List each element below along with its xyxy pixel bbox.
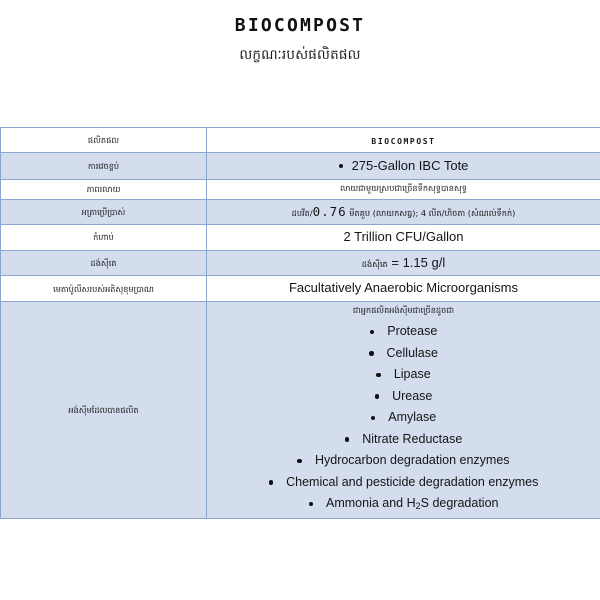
row-label-usage-rate: អត្រាប្រើប្រាស់ xyxy=(1,199,207,224)
usage-rate-suffix: មីតគួប (លាយកសធ្វ); 4 លីត/ហិចតា (សំណល់ទឹក… xyxy=(347,208,516,218)
bullet-dot-icon xyxy=(370,330,375,335)
bullet-dot-icon xyxy=(297,459,302,464)
row-label-concentration: កំហាប់ xyxy=(1,224,207,250)
row-value-packaging: 275-Gallon IBC Tote xyxy=(207,153,600,180)
list-item: Urease xyxy=(213,386,594,408)
row-value-density: ដង់ស៊ីតេ = 1.15 g/l xyxy=(207,250,600,276)
table-row: មេតាប៉ូលីសរបស់អតិសុខុមប្រាណ Facultativel… xyxy=(1,276,600,302)
row-value-metabolism: Facultatively Anaerobic Microorganisms xyxy=(207,276,600,302)
list-item: Lipase xyxy=(213,364,594,386)
table-row: ភាពរលាយ លាយជាមួយស្របជាច្រើនទឹកសុទ្ធបានសុ… xyxy=(1,179,600,199)
enzyme-name: Lipase xyxy=(394,364,431,386)
usage-rate-number: 0.76 xyxy=(313,204,347,219)
ammonia-prefix: Ammonia and H xyxy=(326,496,416,510)
table-row: កំហាប់ 2 Trillion CFU/Gallon xyxy=(1,224,600,250)
ammonia-suffix: S degradation xyxy=(421,496,499,510)
bullet-dot-icon xyxy=(375,394,380,399)
bullet-dot-icon xyxy=(269,480,274,485)
brand-title: BioCompost xyxy=(0,10,600,37)
row-value-concentration: 2 Trillion CFU/Gallon xyxy=(207,224,600,250)
product-spec-sheet: BioCompost លក្ខណៈរបស់ផលិតផល ផលិតផល BioCo… xyxy=(0,0,600,600)
table-row: ផលិតផល BioCompost xyxy=(1,128,600,153)
list-item: Chemical and pesticide degradation enzym… xyxy=(213,472,594,494)
density-value: = 1.15 g/l xyxy=(388,255,445,270)
enzyme-name: Nitrate Reductase xyxy=(362,429,462,451)
product-name-text: BioCompost xyxy=(371,134,435,147)
list-item: Ammonia and H2S degradation xyxy=(213,493,594,515)
bullet-dot-icon xyxy=(339,164,343,168)
list-item: Hydrocarbon degradation enzymes xyxy=(213,450,594,472)
list-item: Amylase xyxy=(213,407,594,429)
row-label-packaging: ការវេចខ្ចប់ xyxy=(1,153,207,180)
bullet-dot-icon xyxy=(345,437,350,442)
bullet-dot-icon xyxy=(371,416,376,421)
row-value-solubility: លាយជាមួយស្របជាច្រើនទឹកសុទ្ធបានសុទ្ធ xyxy=(207,179,600,199)
row-value-usage-rate: ដបវីត/0.76 មីតគួប (លាយកសធ្វ); 4 លីត/ហិចត… xyxy=(207,199,600,224)
row-label-density: ដង់ស៊ីតេ xyxy=(1,250,207,276)
enzyme-list: Protease Cellulase Lipase Urease Amylase… xyxy=(213,321,594,515)
table-row: ដង់ស៊ីតេ ដង់ស៊ីតេ = 1.15 g/l xyxy=(1,250,600,276)
bullet-dot-icon xyxy=(376,373,381,378)
bullet-line: 275-Gallon IBC Tote xyxy=(213,156,594,176)
enzyme-list-heading: ជាអ្នកផលិតអង់ស៊ីមជាច្រើនដូចជា xyxy=(213,305,594,317)
page-subtitle: លក្ខណៈរបស់ផលិតផល xyxy=(0,46,600,66)
table-row: ការវេចខ្ចប់ 275-Gallon IBC Tote xyxy=(1,153,600,180)
bullet-dot-icon xyxy=(309,502,314,507)
row-label-metabolism: មេតាប៉ូលីសរបស់អតិសុខុមប្រាណ xyxy=(1,276,207,302)
list-item: Nitrate Reductase xyxy=(213,429,594,451)
row-label-enzymes: អង់ស៊ីមដែលបានផលិត xyxy=(1,302,207,518)
enzyme-name: Protease xyxy=(387,321,437,343)
enzyme-name: Cellulase xyxy=(387,343,438,365)
enzyme-name-ammonia: Ammonia and H2S degradation xyxy=(326,493,498,515)
row-value-enzymes: ជាអ្នកផលិតអង់ស៊ីមជាច្រើនដូចជា Protease C… xyxy=(207,302,600,518)
table-row: អត្រាប្រើប្រាស់ ដបវីត/0.76 មីតគួប (លាយកស… xyxy=(1,199,600,224)
enzyme-name: Hydrocarbon degradation enzymes xyxy=(315,450,510,472)
packaging-text: 275-Gallon IBC Tote xyxy=(352,156,469,176)
enzyme-name: Urease xyxy=(392,386,432,408)
row-label-solubility: ភាពរលាយ xyxy=(1,179,207,199)
list-item: Cellulase xyxy=(213,343,594,365)
bullet-dot-icon xyxy=(369,351,374,356)
enzyme-name: Amylase xyxy=(388,407,436,429)
row-label-product: ផលិតផល xyxy=(1,128,207,153)
usage-rate-prefix: ដបវីត/ xyxy=(292,208,313,218)
table-row-enzymes: អង់ស៊ីមដែលបានផលិត ជាអ្នកផលិតអង់ស៊ីមជាច្រ… xyxy=(1,302,600,518)
spec-table-wrapper: ផលិតផល BioCompost ការវេចខ្ចប់ 275-Gallon… xyxy=(0,127,600,519)
density-prefix: ដង់ស៊ីតេ xyxy=(362,259,388,269)
spec-table: ផលិតផល BioCompost ការវេចខ្ចប់ 275-Gallon… xyxy=(0,127,600,519)
page-header: BioCompost លក្ខណៈរបស់ផលិតផល xyxy=(0,0,600,66)
list-item: Protease xyxy=(213,321,594,343)
row-value-product: BioCompost xyxy=(207,128,600,153)
enzyme-name: Chemical and pesticide degradation enzym… xyxy=(286,472,538,494)
